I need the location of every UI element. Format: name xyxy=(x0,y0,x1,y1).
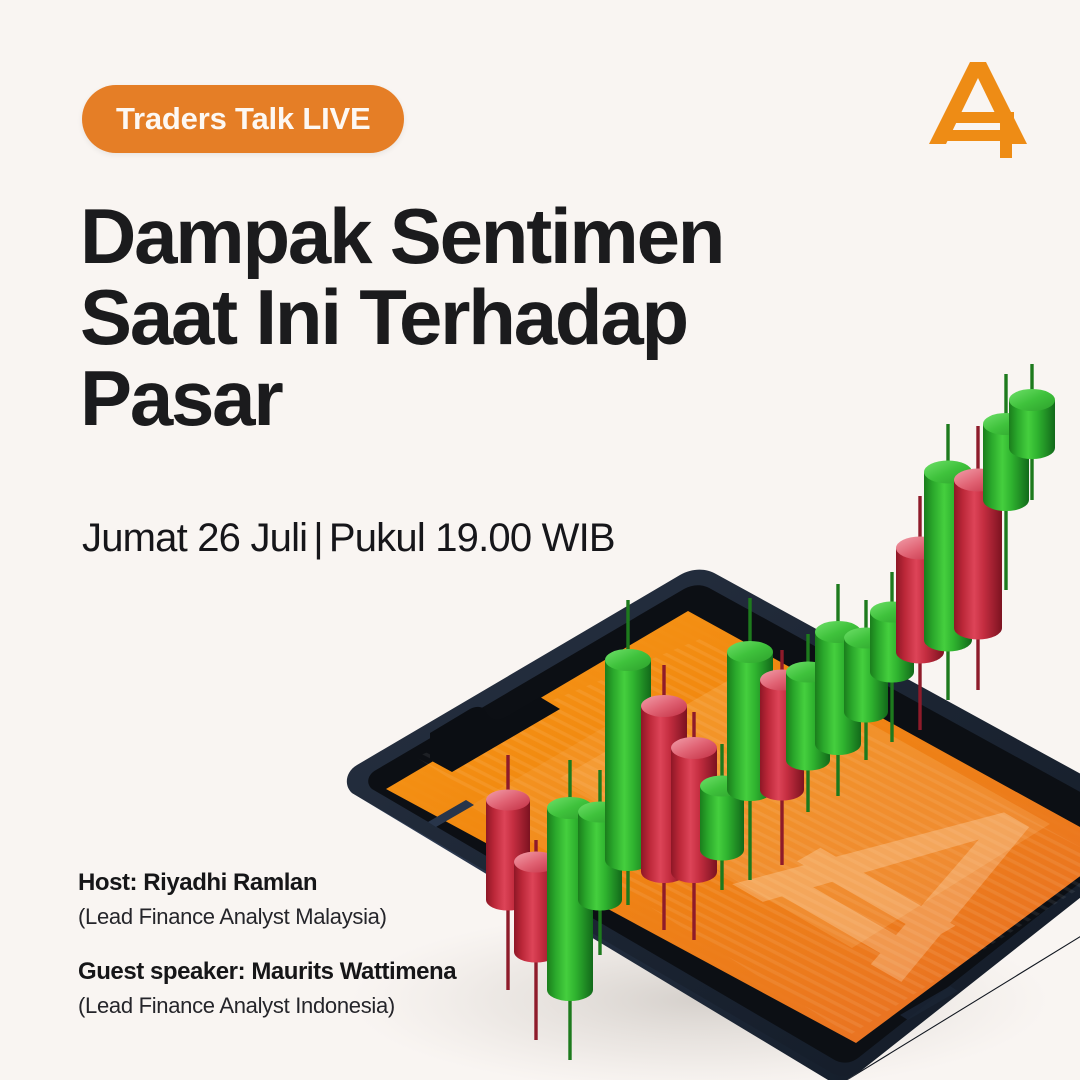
headline-line-2: Saat Ini Terhadap xyxy=(80,277,780,358)
schedule-time: Pukul 19.00 WIB xyxy=(329,516,615,560)
schedule-date: Jumat 26 Juli xyxy=(82,516,307,560)
candle-cap xyxy=(641,695,687,717)
headline-line-3: Pasar xyxy=(80,358,780,439)
credit-guest-name: Guest speaker: Maurits Wattimena xyxy=(78,957,456,988)
candle-cap xyxy=(727,641,773,663)
credit-guest-role: (Lead Finance Analyst Indonesia) xyxy=(78,991,456,1020)
schedule-line: Jumat 26 Juli|Pukul 19.00 WIB xyxy=(82,516,615,561)
page-title: Dampak Sentimen Saat Ini Terhadap Pasar xyxy=(80,196,780,439)
candle-cap xyxy=(605,649,651,671)
live-badge-label: Traders Talk LIVE xyxy=(116,101,370,137)
credits-block: Host: Riyadhi Ramlan (Lead Finance Analy… xyxy=(78,868,456,1020)
credit-host-role: (Lead Finance Analyst Malaysia) xyxy=(78,902,456,931)
brand-a-logo xyxy=(926,56,1036,160)
schedule-separator: | xyxy=(307,516,329,560)
credit-guest: Guest speaker: Maurits Wattimena (Lead F… xyxy=(78,957,456,1020)
credit-host: Host: Riyadhi Ramlan (Lead Finance Analy… xyxy=(78,868,456,931)
candle-cap xyxy=(486,789,530,810)
candle-cap xyxy=(671,737,717,759)
live-badge[interactable]: Traders Talk LIVE xyxy=(82,85,404,153)
poster-canvas: Traders Talk LIVE Dampak Sentimen Saat I… xyxy=(0,0,1080,1080)
headline-line-1: Dampak Sentimen xyxy=(80,196,780,277)
candle-cap xyxy=(1009,389,1055,411)
credit-host-name: Host: Riyadhi Ramlan xyxy=(78,868,456,899)
